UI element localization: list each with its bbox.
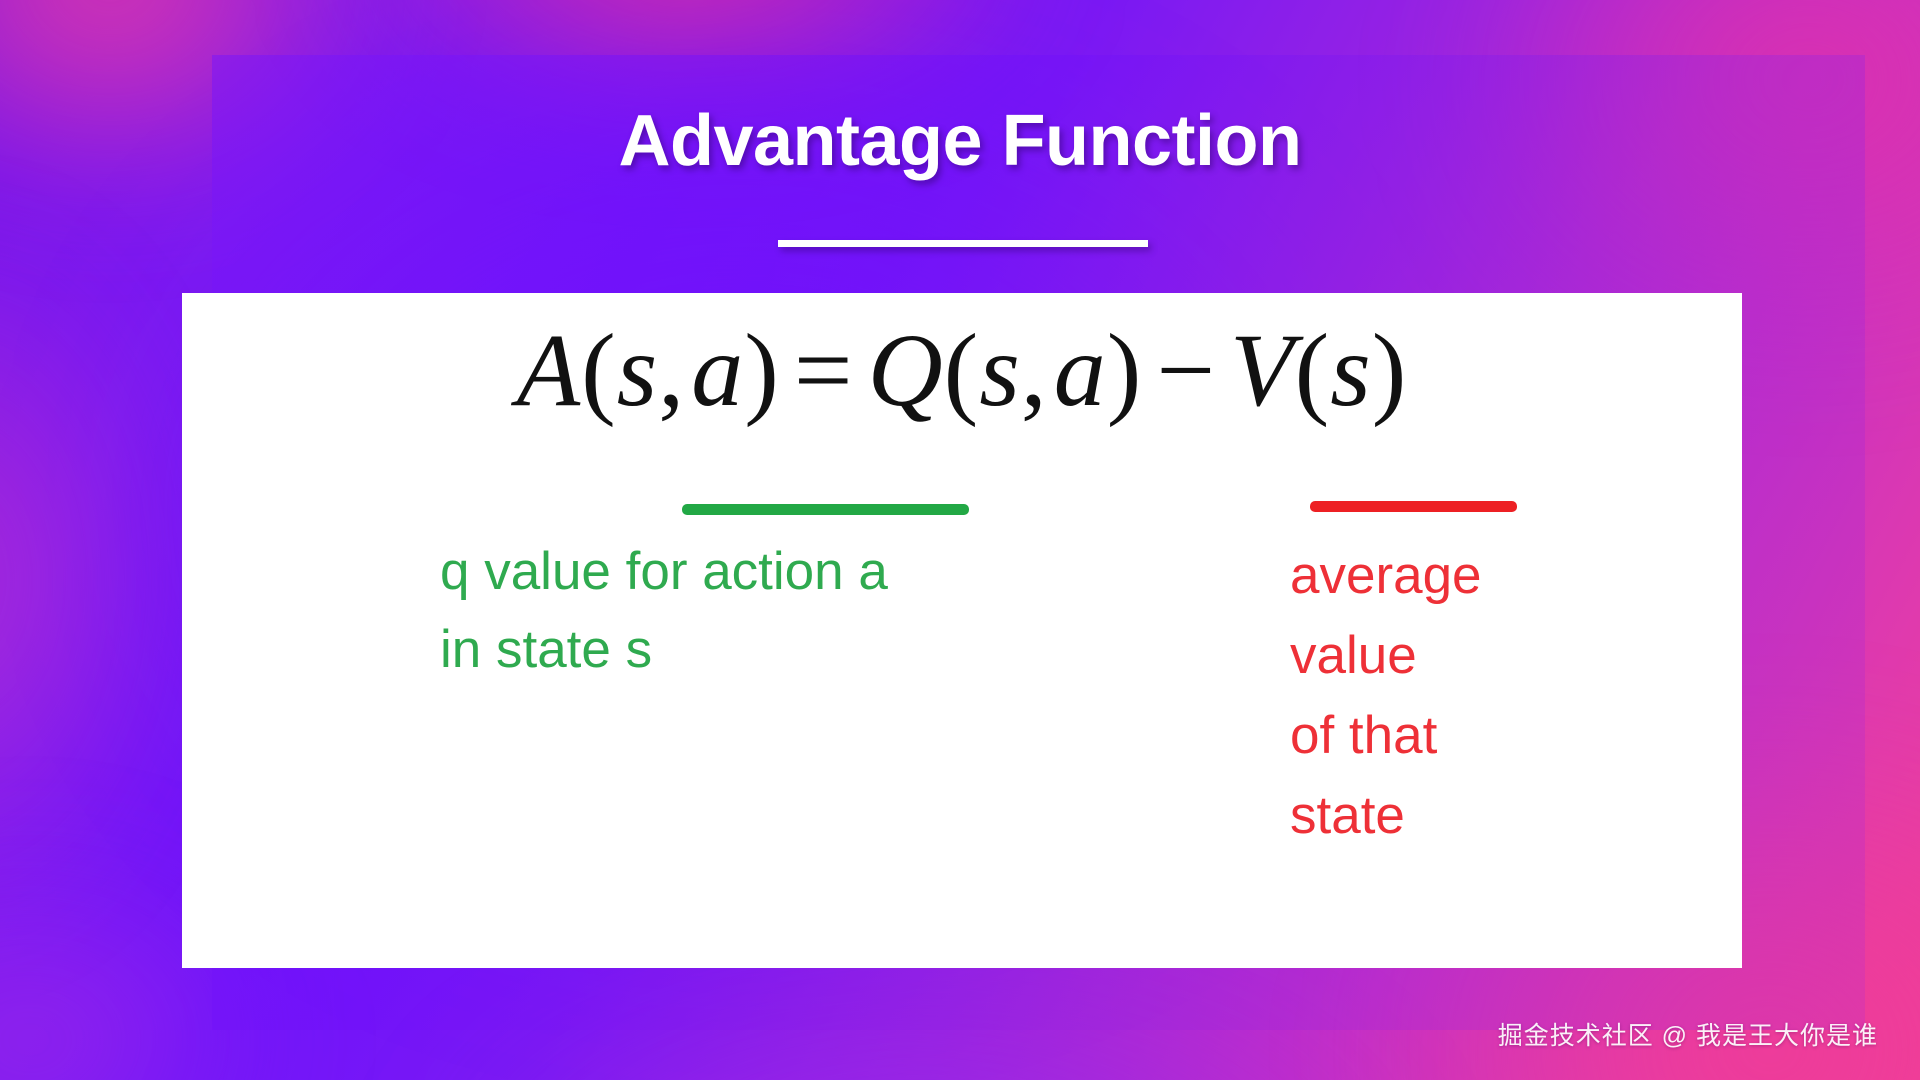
formula-lhs-symbol: A — [517, 313, 582, 428]
formula-q-symbol: Q — [868, 313, 944, 428]
formula-lhs-arg2: a — [691, 313, 744, 428]
v-annotation-line-3: of that — [1290, 696, 1620, 776]
formula-minus-sign: − — [1142, 313, 1230, 428]
formula-lhs-comma: , — [658, 313, 691, 428]
formula-q-arg1: s — [979, 313, 1020, 428]
formula-lhs-arg1: s — [617, 313, 658, 428]
v-annotation-line-1: average — [1290, 536, 1620, 616]
formula-lhs-open-paren: ( — [581, 313, 617, 428]
formula-card: A(s,a)=Q(s,a)−V(s) q value for action a … — [182, 293, 1742, 968]
v-term-underline — [1310, 501, 1517, 512]
slide-root: Advantage Function A(s,a)=Q(s,a)−V(s) q … — [0, 0, 1920, 1080]
q-term-annotation: q value for action a in state s — [440, 533, 1100, 689]
q-annotation-line-1: q value for action a — [440, 533, 1100, 611]
v-annotation-line-4: state — [1290, 776, 1620, 856]
formula-v-symbol: V — [1230, 313, 1295, 428]
formula-q-comma: , — [1021, 313, 1054, 428]
watermark: 掘金技术社区 @ 我是王大你是谁 — [1498, 1016, 1878, 1052]
q-annotation-line-2: in state s — [440, 611, 1100, 689]
q-term-underline — [682, 504, 969, 515]
formula-q-close-paren: ) — [1107, 313, 1143, 428]
formula-v-open-paren: ( — [1295, 313, 1331, 428]
formula-q-arg2: a — [1054, 313, 1107, 428]
advantage-formula: A(s,a)=Q(s,a)−V(s) — [182, 311, 1742, 430]
title-divider — [778, 240, 1148, 247]
formula-q-open-paren: ( — [944, 313, 980, 428]
v-annotation-line-2: value — [1290, 616, 1620, 696]
page-title: Advantage Function — [0, 100, 1920, 182]
formula-equals-sign: = — [780, 313, 868, 428]
v-term-annotation: average value of that state — [1290, 536, 1620, 856]
formula-lhs-close-paren: ) — [744, 313, 780, 428]
formula-v-arg1: s — [1330, 313, 1371, 428]
formula-v-close-paren: ) — [1372, 313, 1408, 428]
